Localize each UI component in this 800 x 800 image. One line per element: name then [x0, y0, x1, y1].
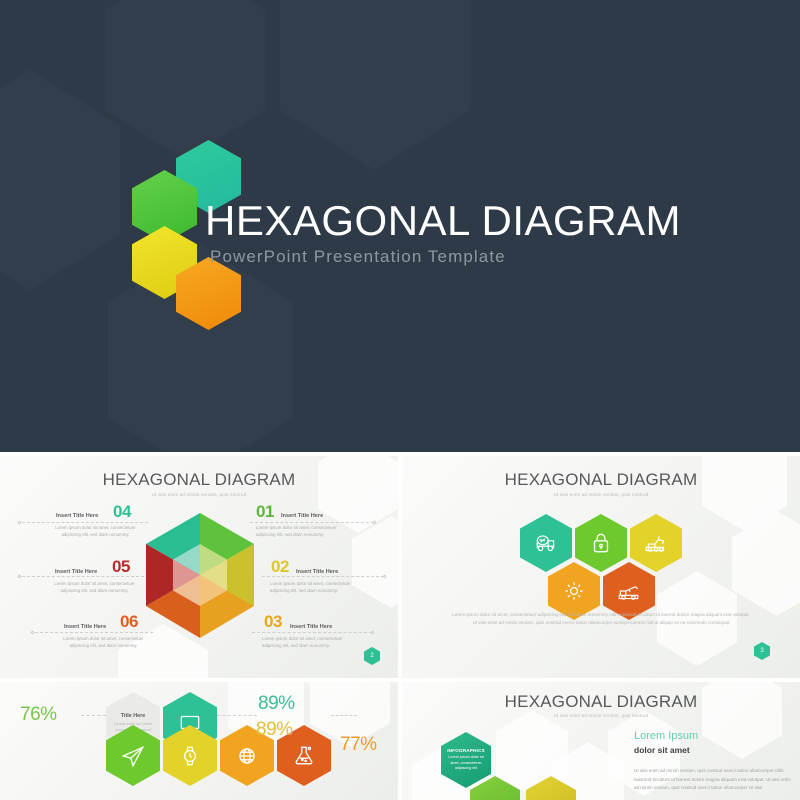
background-hexagon: [280, 0, 470, 170]
page-badge: 2: [364, 647, 380, 665]
title-here-label: Title Here: [121, 713, 145, 719]
stat-value-77: 77%: [340, 734, 377, 756]
item-title-06: Insert Title Here: [64, 624, 106, 630]
item-text-06: Lorem ipsum dolor sit amet, consectetuer…: [55, 636, 152, 650]
slide-icon-hexagons: HEXAGONAL DIAGRAM Ut wisi enim ad minim …: [402, 456, 800, 678]
slide3-body: Lorem ipsum dolor sit amet, consectetuer…: [451, 611, 751, 627]
slide5-subheading: dolor sit amet: [634, 745, 690, 755]
item-title-04: Insert Title Here: [56, 513, 98, 519]
item-number-06: 06: [120, 612, 138, 632]
hex-text-infographics: Lorem ipsum dolor sit amet, consectetuer…: [448, 755, 484, 772]
lock-icon: [588, 530, 614, 556]
leader-line: [81, 715, 106, 716]
slide5-body: Ut wisi enim ad minim veniam, quis nostr…: [634, 767, 794, 793]
globe-icon: [234, 743, 260, 769]
item-text-01: Lorem ipsum dolor sit amet, consectetuer…: [256, 525, 353, 539]
item-number-02: 02: [271, 557, 289, 577]
slide2-subtitle: Ut wisi enim ad minim veniam, quis nostr…: [0, 492, 398, 497]
hex-excavator[interactable]: [630, 514, 682, 572]
slide5-title: HEXAGONAL DIAGRAM: [402, 692, 800, 712]
item-title-02: Insert Title Here: [296, 569, 338, 575]
item-title-05: Insert Title Here: [55, 569, 97, 575]
leader-line: [22, 522, 148, 523]
item-title-01: Insert Title Here: [281, 513, 323, 519]
crane-truck-icon: [616, 578, 642, 604]
excavator-icon: [643, 530, 669, 556]
hex-label-infographics: INFOGRAPHICS: [447, 748, 485, 753]
stat-value-89-teal: 89%: [258, 693, 295, 715]
stat-value-89-yellow: 89%: [256, 719, 293, 741]
slide-percentage-hexagons: Title Here Ut wisi enim ad minim veniam,…: [0, 682, 398, 800]
gear-icon: [561, 578, 587, 604]
leader-line: [331, 715, 357, 716]
background-hexagon: [105, 0, 265, 160]
item-text-02: Lorem ipsum dolor sit amet, consectetuer…: [270, 581, 367, 595]
item-number-04: 04: [113, 502, 131, 522]
item-text-04: Lorem ipsum dolor sit amet, consectetuer…: [47, 525, 144, 539]
leader-line: [217, 715, 257, 716]
hex-cement-mixer[interactable]: [520, 514, 572, 572]
item-number-05: 05: [112, 557, 130, 577]
slide2-title: HEXAGONAL DIAGRAM: [0, 470, 398, 490]
leader-line: [252, 632, 372, 633]
item-number-03: 03: [264, 612, 282, 632]
background-hexagon: [0, 70, 120, 290]
slide3-title: HEXAGONAL DIAGRAM: [402, 470, 800, 490]
paper-plane-icon: [120, 743, 146, 769]
item-text-05: Lorem ipsum dolor sit amet, consectetuer…: [46, 581, 143, 595]
item-text-03: Lorem ipsum dolor sit amet, consectetuer…: [262, 636, 359, 650]
flask-icon: [291, 743, 317, 769]
stat-value-76: 76%: [20, 704, 57, 726]
hex-lock[interactable]: [575, 514, 627, 572]
page-subtitle: PowerPoint Presentation Template: [210, 247, 506, 267]
slide5-heading: Lorem Ipsum: [634, 730, 698, 742]
slide-infographics: HEXAGONAL DIAGRAM Ut wisi enim ad minim …: [402, 682, 800, 800]
hexagonal-cube-graphic: [146, 513, 254, 638]
watch-icon: [177, 743, 203, 769]
page-title: HEXAGONAL DIAGRAM: [205, 197, 681, 245]
cement-mixer-icon: [533, 530, 559, 556]
page-badge: 3: [754, 642, 770, 660]
slide-title-cover: HEXAGONAL DIAGRAM PowerPoint Presentatio…: [0, 0, 800, 452]
slide5-subtitle: Ut wisi enim ad minim veniam, quis nostr…: [402, 713, 800, 718]
leader-line: [250, 522, 374, 523]
item-number-01: 01: [256, 502, 274, 522]
leader-line: [35, 632, 153, 633]
item-title-03: Insert Title Here: [290, 624, 332, 630]
presentation-preview-sheet: HEXAGONAL DIAGRAM PowerPoint Presentatio…: [0, 0, 800, 800]
slide3-subtitle: Ut wisi enim ad minim veniam, quis nostr…: [402, 492, 800, 497]
